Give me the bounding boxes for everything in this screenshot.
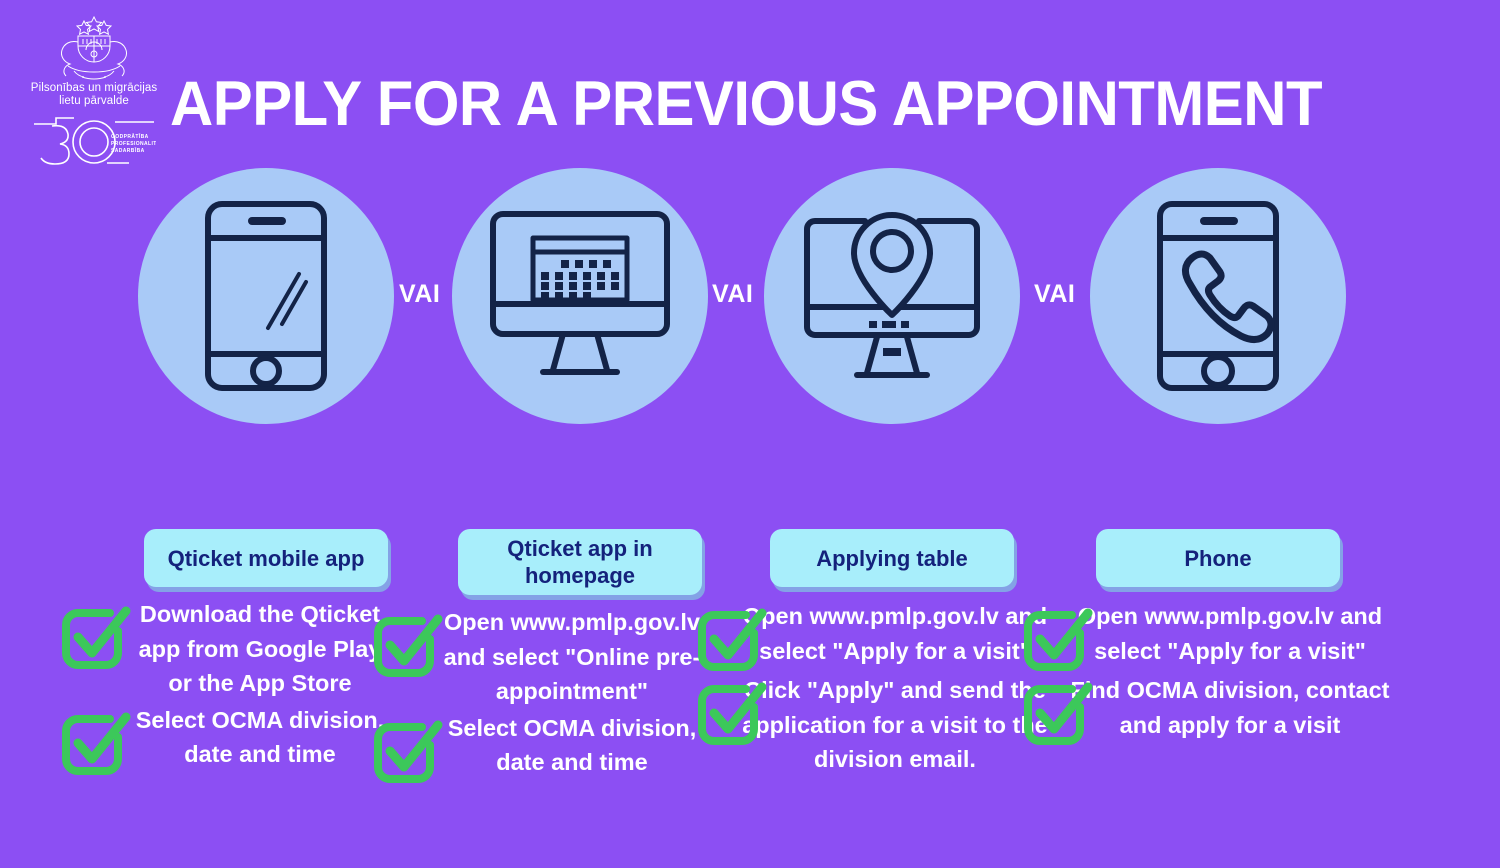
steps-list: Open www.pmlp.gov.lv and select "Apply f…: [742, 599, 1042, 777]
checkmark-icon: [1022, 603, 1094, 675]
step-text: Find OCMA division, contact and apply fo…: [1054, 673, 1400, 742]
values-line-3: SADARBĪBA: [111, 147, 145, 154]
step-item: Find OCMA division, contact and apply fo…: [1068, 673, 1368, 745]
org-name-line-2: lietu pārvalde: [14, 95, 174, 108]
step-item: Download the Qticket app from Google Pla…: [116, 597, 416, 701]
step-text: Download the Qticket app from Google Pla…: [128, 597, 386, 701]
organization-name: Pilsonības un migrācijas lietu pārvalde: [14, 82, 174, 108]
desktop-calendar-icon: [485, 206, 675, 386]
organization-logo: Pilsonības un migrācijas lietu pārvalde …: [14, 16, 174, 168]
step-text: Open www.pmlp.gov.lv and select "Apply f…: [1054, 599, 1400, 668]
icon-circle: [1090, 168, 1346, 424]
method-label-pill[interactable]: Qticket app in homepage: [458, 529, 702, 595]
step-item: Open www.pmlp.gov.lv and select "Apply f…: [742, 599, 1042, 671]
method-column-applying-table: Applying table Open www.pmlp.gov.lv and …: [742, 168, 1042, 779]
checkmark-icon: [696, 603, 768, 675]
latvia-coat-of-arms-icon: [48, 16, 140, 80]
org-name-line-1: Pilsonības un migrācijas: [14, 82, 174, 95]
smartphone-icon: [196, 196, 336, 396]
icon-circle: [452, 168, 708, 424]
step-item: Select OCMA division, date and time: [116, 703, 416, 775]
step-text: Open www.pmlp.gov.lv and select "Online …: [428, 605, 710, 709]
checkmark-icon: [372, 609, 444, 681]
method-column-phone: Phone Open www.pmlp.gov.lv and select "A…: [1068, 168, 1368, 747]
method-label-pill[interactable]: Applying table: [770, 529, 1014, 587]
steps-list: Open www.pmlp.gov.lv and select "Online …: [430, 605, 730, 783]
checkmark-icon: [1022, 677, 1094, 749]
method-column-qticket-mobile-app: Qticket mobile app Download the Qticket …: [116, 168, 416, 777]
step-text: Click "Apply" and send the application f…: [730, 673, 1054, 777]
method-label-pill[interactable]: Qticket mobile app: [144, 529, 388, 587]
methods-grid: VAI VAI VAI Qticket m: [0, 168, 1500, 868]
checkmark-icon: [696, 677, 768, 749]
steps-list: Open www.pmlp.gov.lv and select "Apply f…: [1068, 599, 1368, 745]
values-line-2: PROFESIONALITĀTE: [111, 140, 156, 147]
step-item: Click "Apply" and send the application f…: [742, 673, 1042, 777]
checkmark-icon: [60, 707, 132, 779]
phone-call-icon: [1148, 196, 1288, 396]
icon-circle: [138, 168, 394, 424]
desktop-location-pin-icon: [797, 201, 987, 391]
step-text: Select OCMA division, date and time: [428, 711, 710, 780]
infographic-canvas: Pilsonības un migrācijas lietu pārvalde …: [0, 0, 1500, 860]
method-column-qticket-homepage: Qticket app in homepage Open www.pmlp.go…: [430, 168, 730, 785]
anniversary-30-logo-icon: GODPRĀTĪBA PROFESIONALITĀTE SADARBĪBA: [32, 112, 156, 168]
checkmark-icon: [60, 601, 132, 673]
icon-circle: [764, 168, 1020, 424]
steps-list: Download the Qticket app from Google Pla…: [116, 597, 416, 775]
page-title: APPLY FOR A PREVIOUS APPOINTMENT: [170, 68, 1272, 140]
method-label-pill[interactable]: Phone: [1096, 529, 1340, 587]
values-line-1: GODPRĀTĪBA: [111, 133, 149, 140]
step-item: Select OCMA division, date and time: [430, 711, 730, 783]
checkmark-icon: [372, 715, 444, 787]
step-item: Open www.pmlp.gov.lv and select "Online …: [430, 605, 730, 709]
step-item: Open www.pmlp.gov.lv and select "Apply f…: [1068, 599, 1368, 671]
step-text: Select OCMA division, date and time: [128, 703, 386, 772]
step-text: Open www.pmlp.gov.lv and select "Apply f…: [730, 599, 1054, 668]
